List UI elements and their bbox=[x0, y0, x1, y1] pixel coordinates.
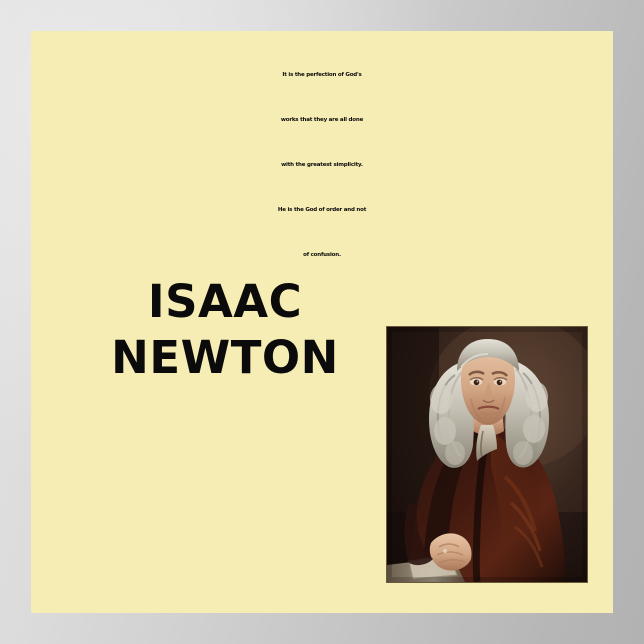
author-line-1: ISAAC bbox=[75, 274, 375, 330]
poster-canvas: It is the perfection of God's works that… bbox=[0, 0, 644, 644]
newton-portrait-image bbox=[387, 327, 587, 582]
quote-line-3: with the greatest simplicity. bbox=[41, 143, 603, 188]
author-line-2: NEWTON bbox=[75, 330, 375, 386]
quote-line-1: It is the perfection of God's bbox=[41, 53, 603, 98]
quote-line-2: works that they are all done bbox=[41, 98, 603, 143]
poster: It is the perfection of God's works that… bbox=[31, 31, 613, 613]
quote-text: It is the perfection of God's works that… bbox=[31, 53, 613, 278]
author-name: ISAAC NEWTON bbox=[75, 274, 375, 386]
quote-line-5: of confusion. bbox=[41, 233, 603, 278]
quote-line-4: He is the God of order and not bbox=[41, 188, 603, 233]
